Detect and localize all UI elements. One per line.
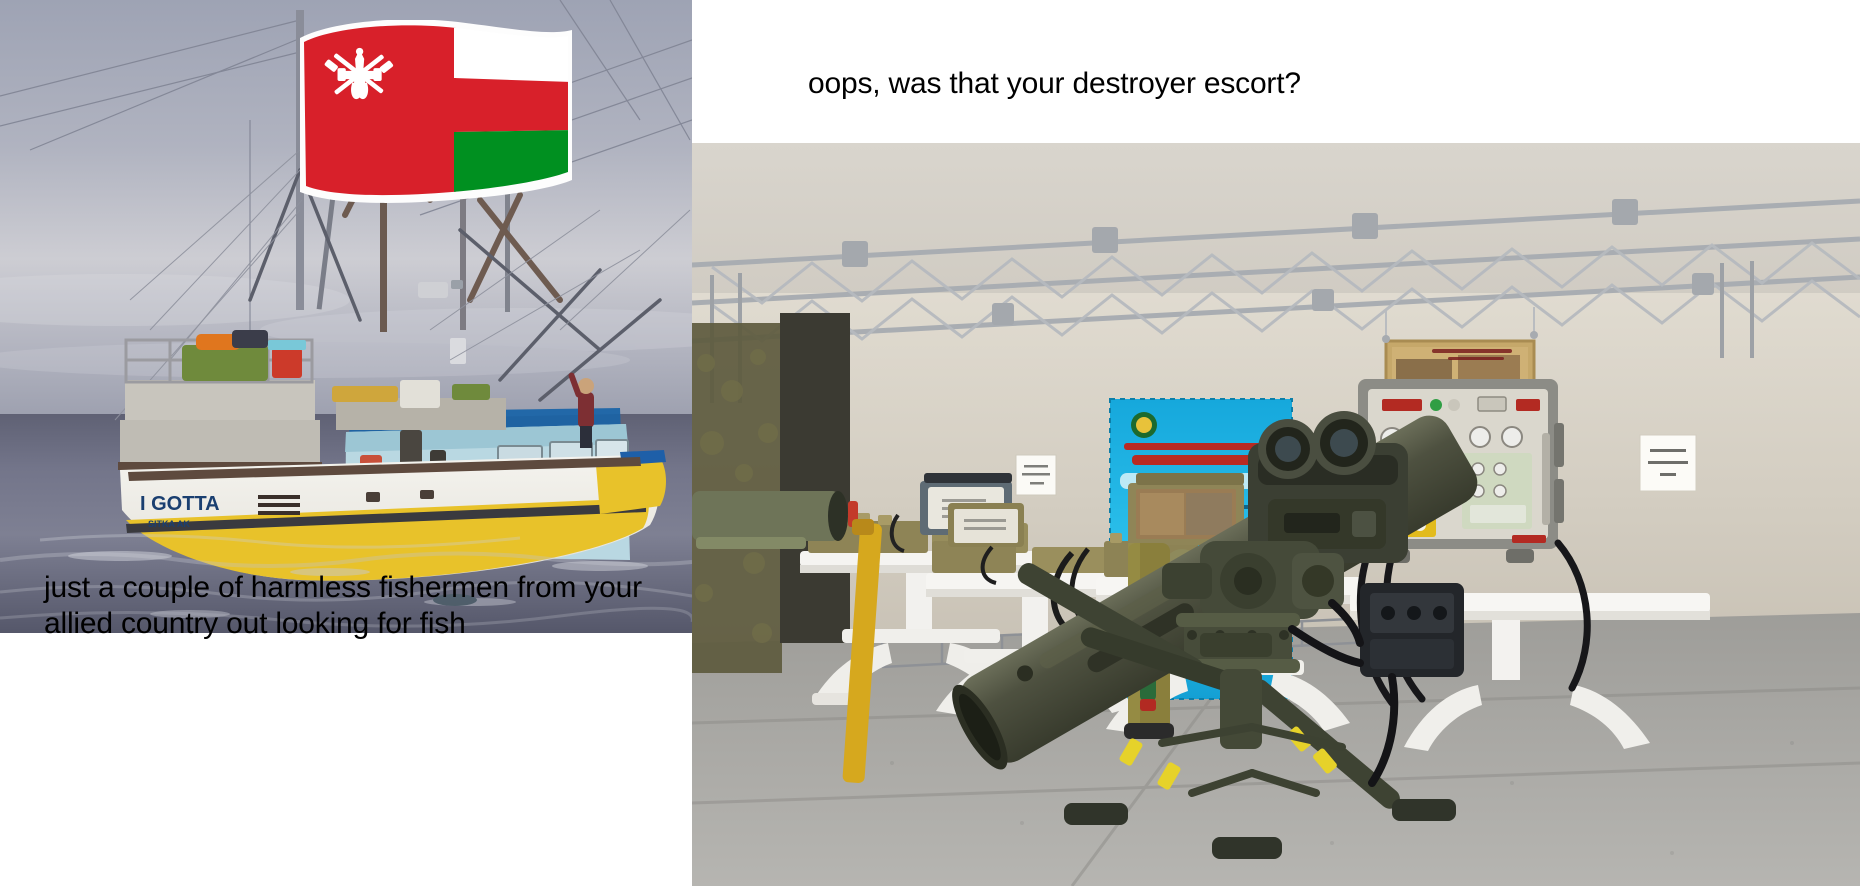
electronics-box <box>1360 583 1464 677</box>
caption-left: just a couple of harmless fishermen from… <box>44 570 654 642</box>
caption-right: oops, was that your destroyer escort? <box>808 66 1508 102</box>
green-tube-object <box>692 491 848 549</box>
missile-launcher-illustration <box>692 143 1860 886</box>
boat-name: I GOTTA <box>140 493 220 515</box>
mid-deckhouse <box>332 380 506 430</box>
oman-flag <box>296 20 572 210</box>
wall-sign-left <box>1016 455 1056 495</box>
oman-flag-overlay <box>296 20 572 210</box>
right-photo-missile-launcher <box>692 143 1860 886</box>
boat-home-port: SITKA AK <box>148 519 190 529</box>
left-photo-fishing-boat: 33345 I GOTTA SITKA AK <box>0 0 692 633</box>
wall-sign-right <box>1640 435 1696 491</box>
flag-bands <box>296 20 572 210</box>
